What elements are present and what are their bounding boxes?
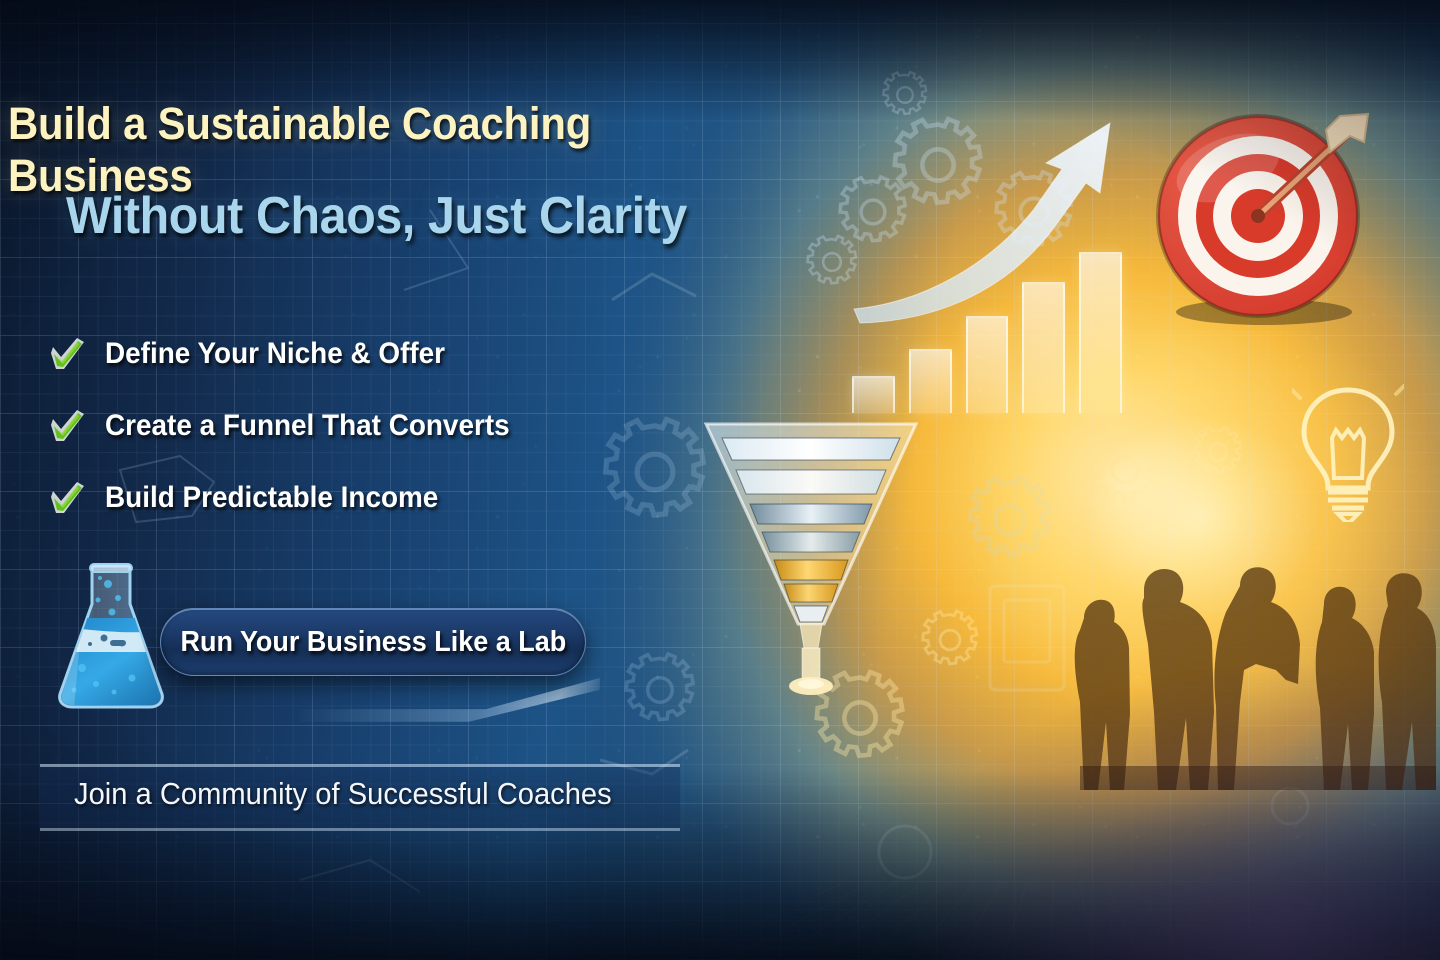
list-item-label: Build Predictable Income bbox=[105, 481, 438, 515]
green-check-icon bbox=[46, 333, 88, 375]
page-title-line2: Without Chaos, Just Clarity bbox=[66, 186, 838, 246]
green-check-icon bbox=[46, 405, 88, 447]
green-check-icon bbox=[46, 477, 88, 519]
lab-flask-icon bbox=[52, 560, 170, 712]
callout-pill[interactable]: Run Your Business Like a Lab bbox=[160, 608, 586, 676]
list-item: Define Your Niche & Offer bbox=[46, 318, 540, 390]
list-item: Create a Funnel That Converts bbox=[46, 390, 540, 462]
marketing-banner: Build a Sustainable Coaching Business Wi… bbox=[0, 0, 1440, 960]
callout-pill-label: Run Your Business Like a Lab bbox=[180, 626, 566, 659]
tagline-text: Join a Community of Successful Coaches bbox=[74, 776, 612, 812]
list-item-label: Create a Funnel That Converts bbox=[105, 409, 510, 443]
background-purple-tint bbox=[900, 660, 1440, 960]
list-item-label: Define Your Niche & Offer bbox=[105, 337, 445, 371]
benefit-list: Define Your Niche & Offer Create a Funne… bbox=[46, 318, 540, 534]
list-item: Build Predictable Income bbox=[46, 462, 540, 534]
